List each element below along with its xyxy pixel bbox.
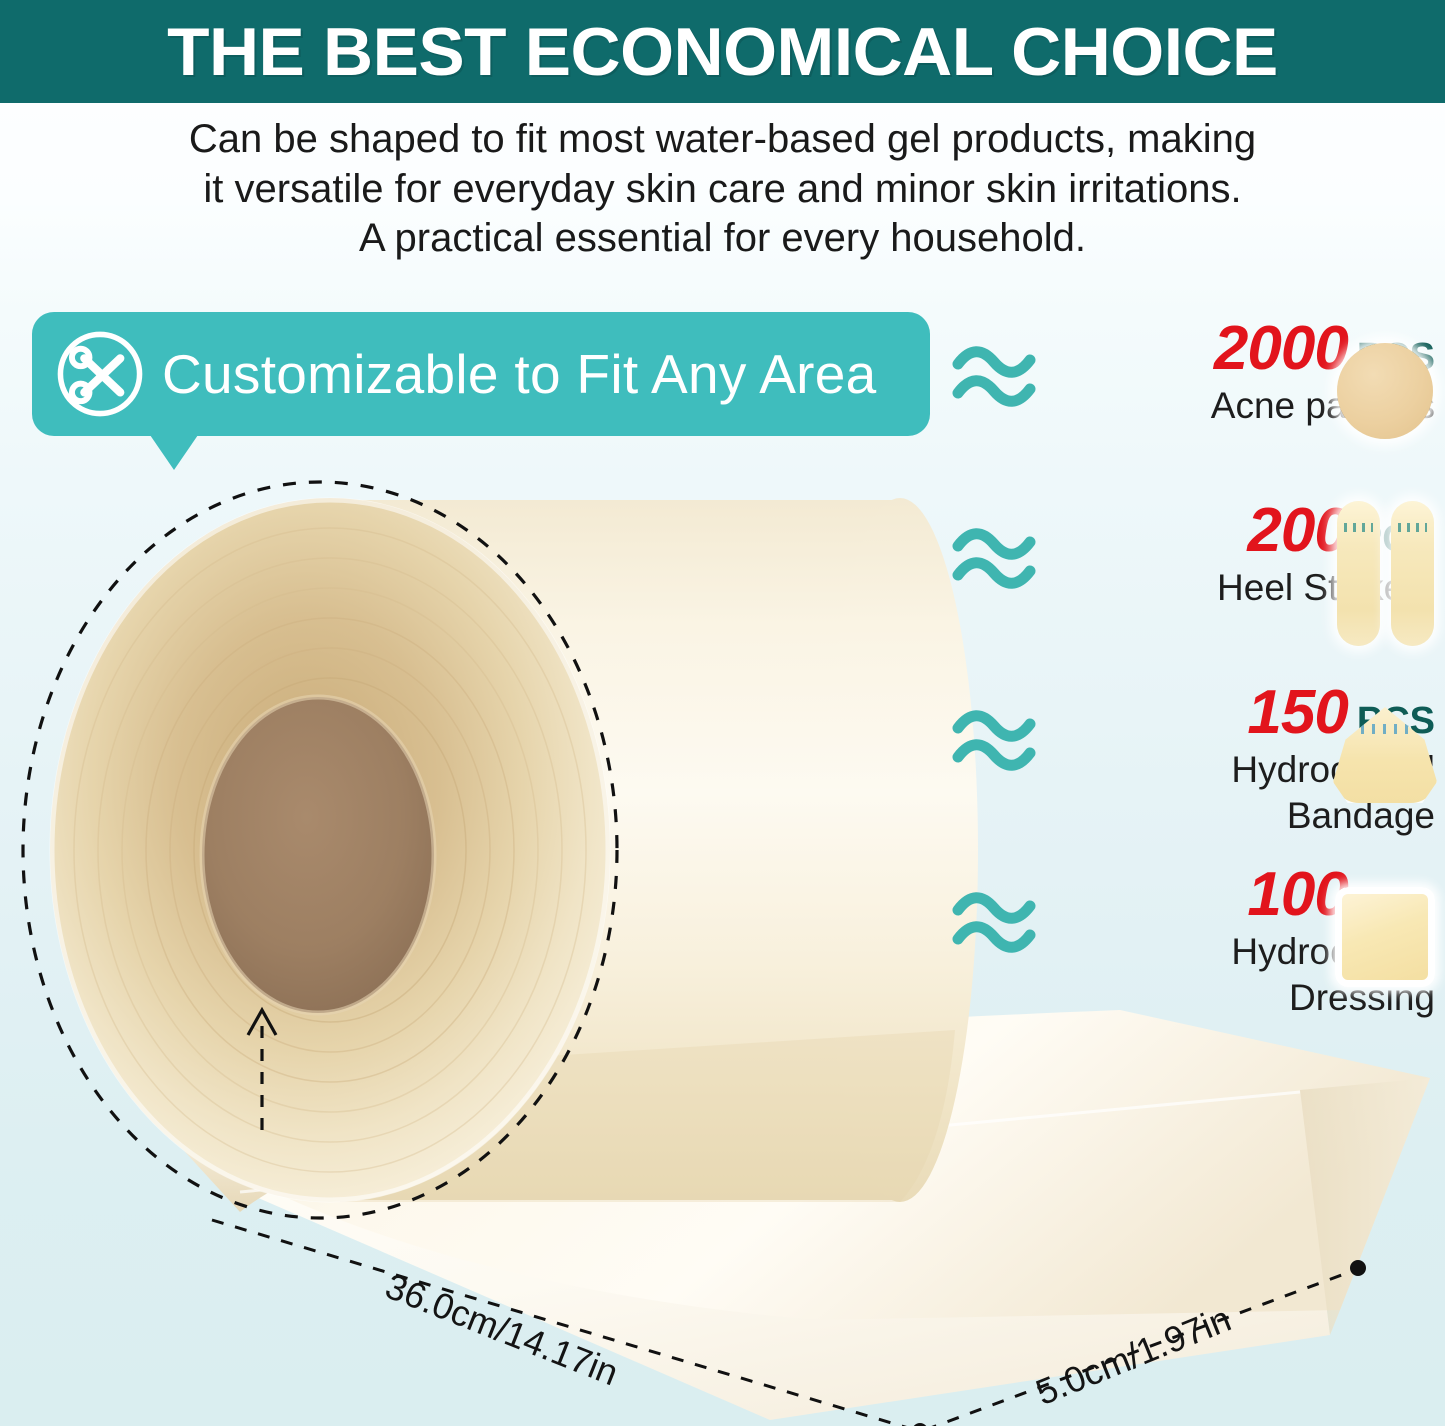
hydrocolloid-bandage-shape bbox=[1333, 707, 1437, 803]
page-title: THE BEST ECONOMICAL CHOICE bbox=[167, 18, 1278, 86]
quantity-spec-list: 2000 PCS Acne patches 200 PCS Heel Stick… bbox=[952, 316, 1445, 1044]
acne-patch-shape bbox=[1337, 343, 1433, 439]
subtitle-paragraph: Can be shaped to fit most water-based ge… bbox=[0, 115, 1445, 264]
header-banner: THE BEST ECONOMICAL CHOICE bbox=[0, 0, 1445, 103]
wave-icon bbox=[952, 346, 1052, 408]
hydrocolloid-dressing-thumbnail bbox=[1325, 862, 1445, 1012]
subtitle-line-2: it versatile for everyday skin care and … bbox=[40, 165, 1405, 215]
acne-patch-circle-thumbnail bbox=[1325, 316, 1445, 466]
infographic-canvas: THE BEST ECONOMICAL CHOICE Can be shaped… bbox=[0, 0, 1445, 1426]
hydrocolloid-bandage-thumbnail bbox=[1325, 680, 1445, 830]
spec-row-heel-stickers: 200 PCS Heel Stickers bbox=[952, 498, 1445, 680]
wave-icon bbox=[952, 892, 1052, 954]
spec-row-hydrocolloid-dressing: 100 PCS Hydrocolloid Dressing bbox=[952, 862, 1445, 1044]
badge-pointer-tail bbox=[150, 435, 198, 470]
customizable-badge[interactable]: Customizable to Fit Any Area bbox=[32, 312, 930, 436]
wave-icon bbox=[952, 710, 1052, 772]
heel-sticker-group bbox=[1337, 501, 1434, 646]
dimension-endpoint-dot bbox=[1350, 1260, 1366, 1276]
scissors-icon bbox=[54, 328, 146, 420]
heel-sticker-shape bbox=[1337, 501, 1380, 646]
customizable-badge-label: Customizable to Fit Any Area bbox=[162, 342, 877, 406]
tape-roll-face bbox=[50, 498, 610, 1202]
hydrocolloid-dressing-shape bbox=[1335, 887, 1435, 987]
subtitle-line-1: Can be shaped to fit most water-based ge… bbox=[40, 115, 1405, 165]
spec-row-hydrocolloid-bandage: 150 PCS Hydrocolloid Bandage bbox=[952, 680, 1445, 862]
heel-sticker-shape bbox=[1391, 501, 1434, 646]
spec-row-acne-patches: 2000 PCS Acne patches bbox=[952, 316, 1445, 498]
heel-sticker-strips-thumbnail bbox=[1325, 498, 1445, 648]
subtitle-line-3: A practical essential for every househol… bbox=[40, 214, 1405, 264]
wave-icon bbox=[952, 528, 1052, 590]
